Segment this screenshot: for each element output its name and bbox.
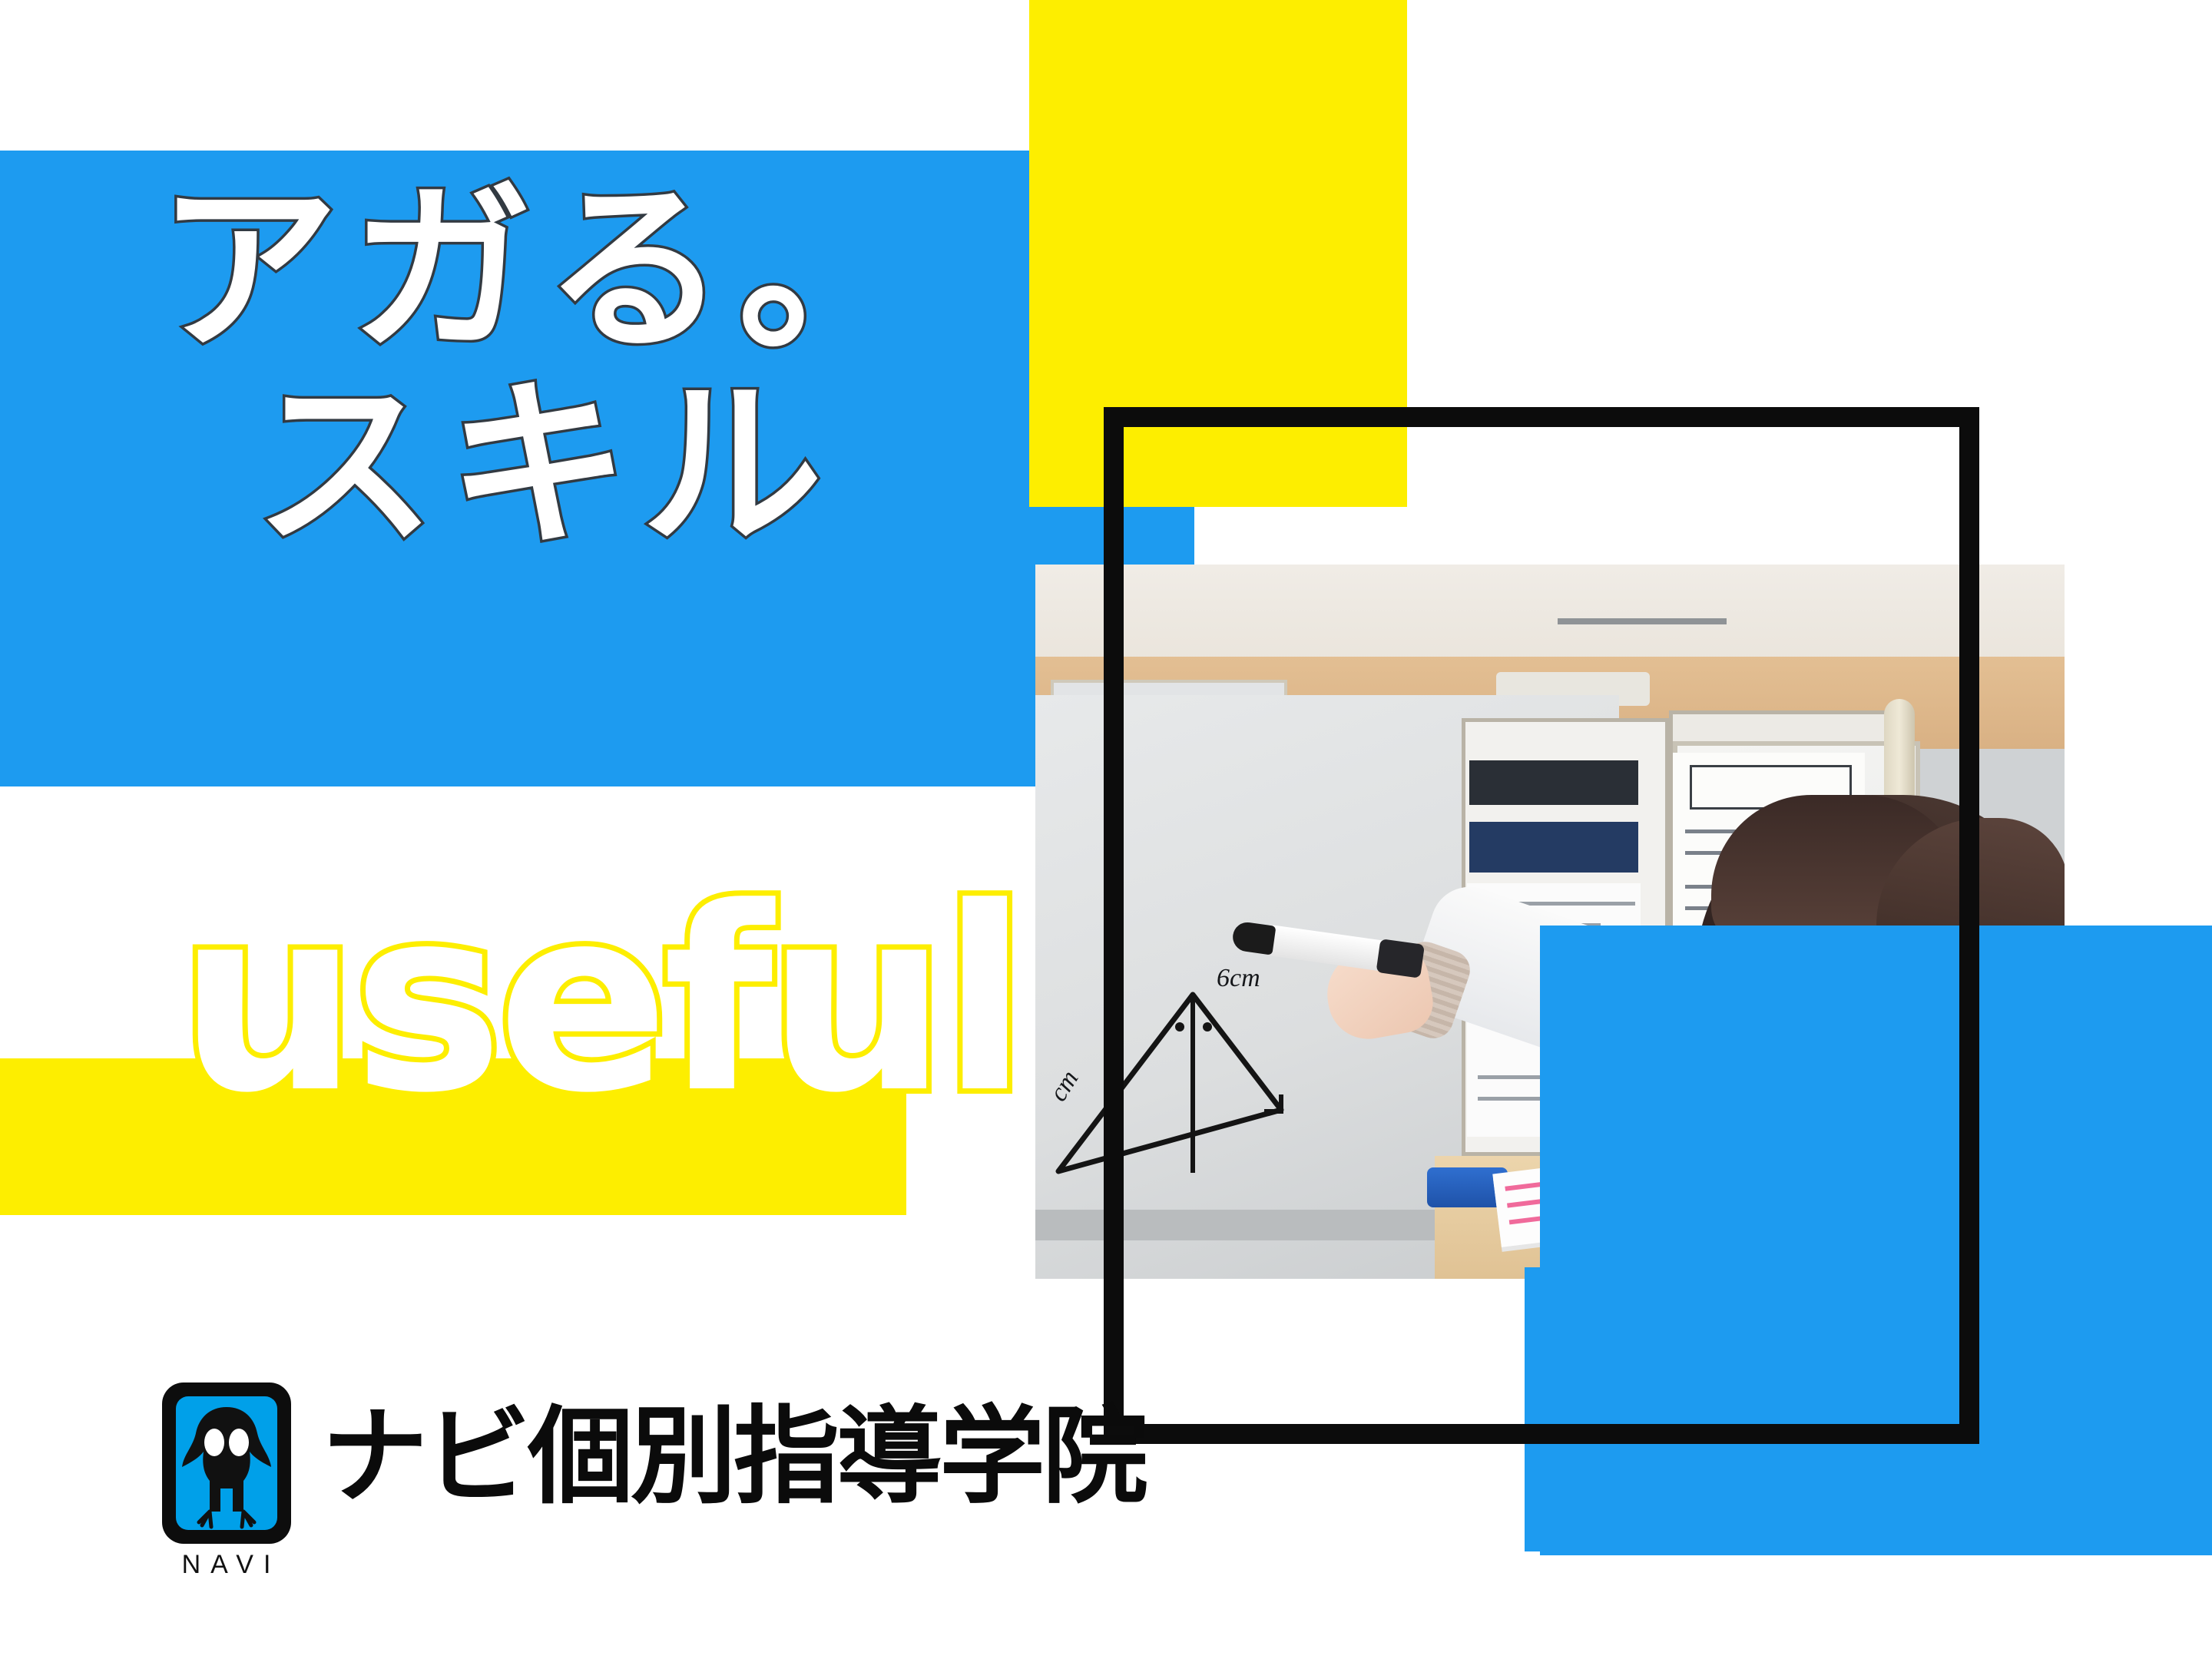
blue-block-bottom-right-wide <box>1525 1267 2212 1551</box>
photo-label-6cm: 6cm <box>1217 964 1260 993</box>
brand-logo: NAVI ナビ個別指導学院 <box>157 1382 1145 1580</box>
navi-logo-mark: NAVI <box>157 1382 296 1580</box>
navi-subtext: NAVI <box>173 1550 281 1580</box>
headline-line-2: スキル <box>254 369 1125 565</box>
photo-triangle-drawing <box>1051 979 1373 1233</box>
photo-notice-header <box>1469 760 1638 805</box>
navi-badge-inner <box>176 1396 277 1530</box>
photo-hanger-rail <box>1558 618 1727 624</box>
headline: アガる。 スキル <box>157 173 1125 565</box>
useful-wordmark: useful <box>178 874 1022 1128</box>
navi-mascot-icon <box>176 1396 277 1530</box>
photo-notice-bar <box>1469 822 1638 873</box>
marker-cap-icon <box>1376 939 1425 979</box>
navi-badge-icon <box>162 1382 291 1544</box>
poster-canvas: 6cm cm アガる。 スキル useful <box>0 0 2212 1659</box>
headline-line-1: アガる。 <box>157 173 1125 369</box>
brand-name: ナビ個別指導学院 <box>322 1404 1145 1510</box>
